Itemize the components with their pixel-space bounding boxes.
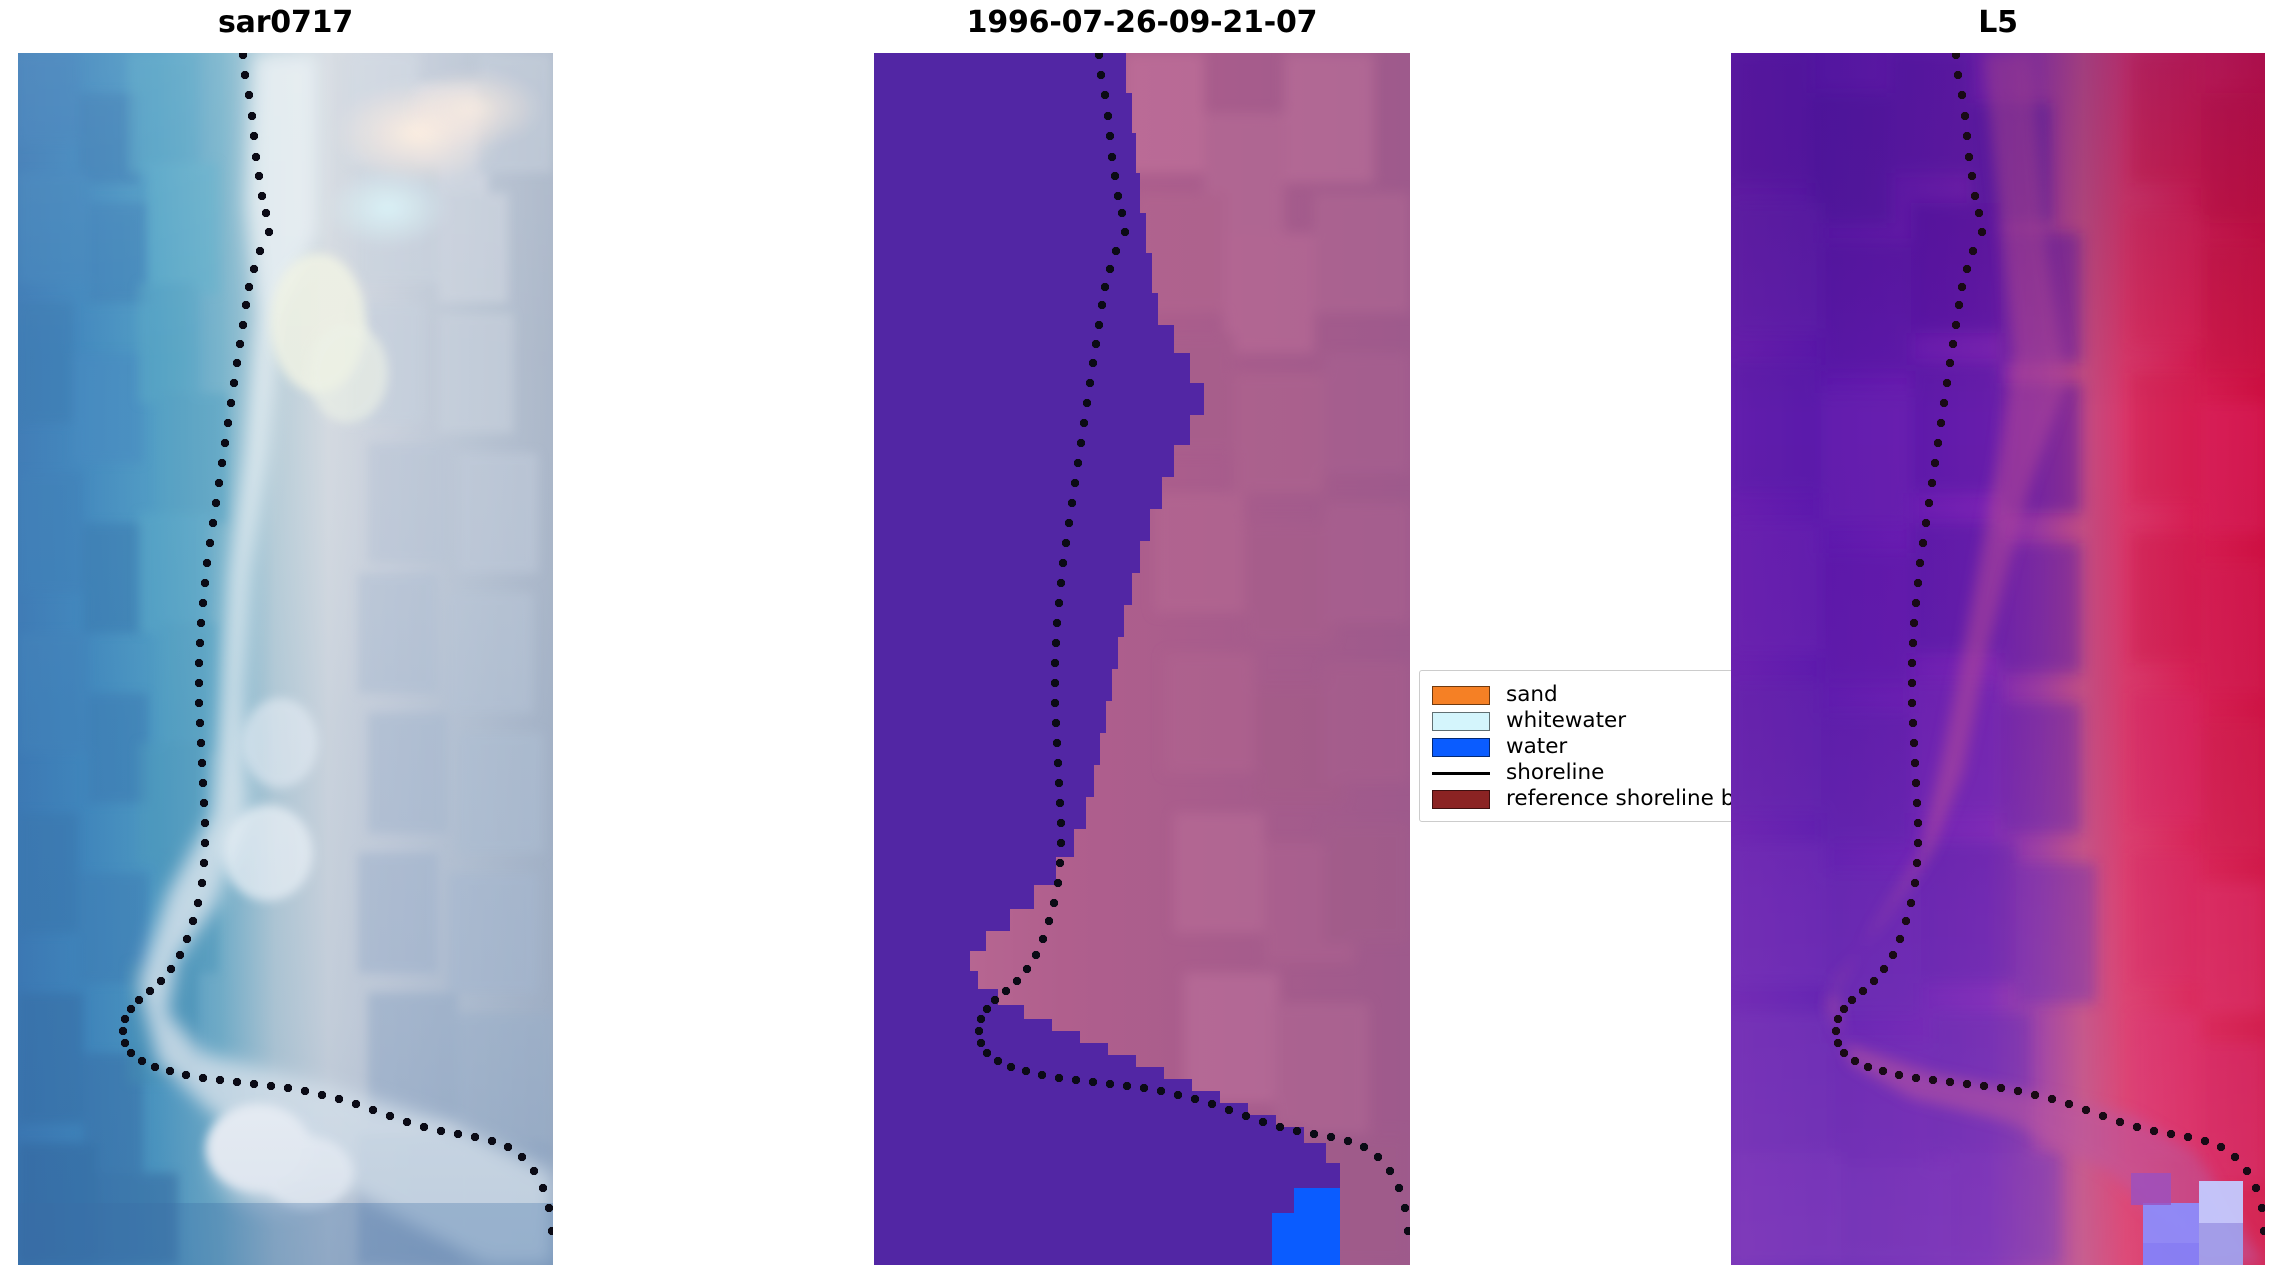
- panel-title-l5: L5: [1731, 8, 2265, 38]
- axes-classification[interactable]: [874, 53, 1410, 1265]
- legend-item-sand: sand: [1432, 682, 1776, 708]
- figure-canvas: sar0717: [0, 0, 2281, 1283]
- legend-label-water: water: [1506, 736, 1567, 758]
- axes-l5[interactable]: [1731, 53, 2265, 1265]
- axes-sar0717[interactable]: [18, 53, 553, 1265]
- legend-label-whitewater: whitewater: [1506, 710, 1626, 732]
- whitewater-swatch-icon: [1432, 712, 1490, 731]
- sand-swatch-icon: [1432, 686, 1490, 705]
- legend-item-whitewater: whitewater: [1432, 708, 1776, 734]
- water-swatch-icon: [1432, 738, 1490, 757]
- legend-label-shoreline: shoreline: [1506, 762, 1604, 784]
- legend-label-sand: sand: [1506, 684, 1558, 706]
- shoreline-line-icon: [1432, 764, 1490, 783]
- legend-item-reference-shoreline-buffer: reference shoreline buffer: [1432, 786, 1776, 812]
- panel-title-classification: 1996-07-26-09-21-07: [874, 8, 1410, 38]
- panel-sar0717: sar0717: [18, 0, 553, 1283]
- panel-l5: L5: [1731, 0, 2265, 1283]
- legend-item-shoreline: shoreline: [1432, 760, 1776, 786]
- legend-item-water: water: [1432, 734, 1776, 760]
- panel-classification: 1996-07-26-09-21-07: [874, 0, 1410, 1283]
- reference-shoreline-buffer-swatch-icon: [1432, 790, 1490, 809]
- panel-title-sar0717: sar0717: [18, 8, 553, 38]
